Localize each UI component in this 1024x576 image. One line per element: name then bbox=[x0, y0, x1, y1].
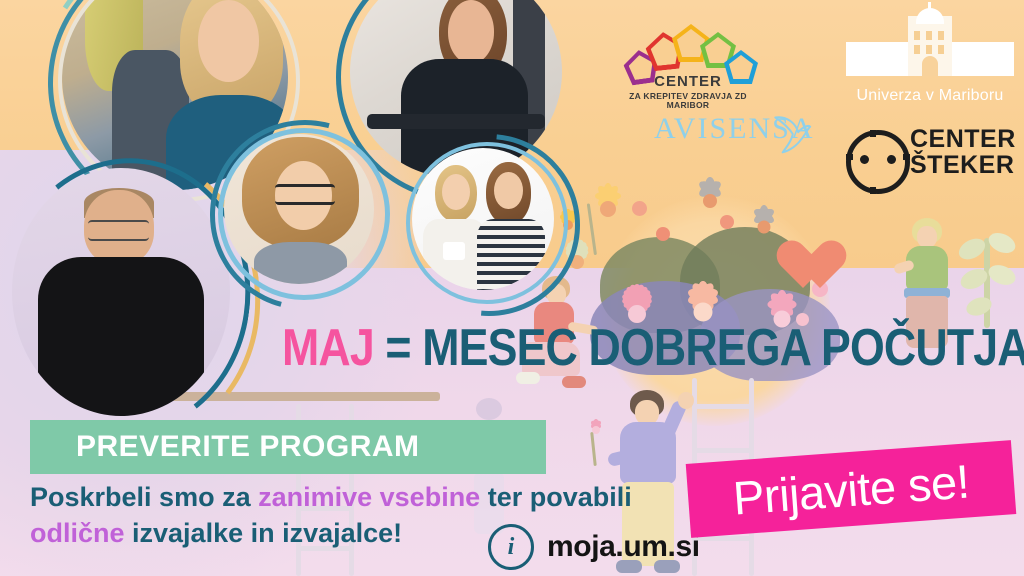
logo-center-steker: CENTER ŠTEKER bbox=[846, 126, 1018, 190]
shoe bbox=[562, 376, 586, 388]
flower-in-hand bbox=[582, 416, 610, 444]
headline-highlight: MAJ bbox=[282, 319, 374, 377]
logo-univerza-maribor: Univerza v Mariboru bbox=[846, 22, 1014, 114]
plant-leaves bbox=[962, 212, 1016, 330]
logo-university-label: Univerza v Mariboru bbox=[846, 88, 1014, 104]
pentagon-arch-icon bbox=[608, 24, 768, 72]
preverite-program-label: PREVERITE PROGRAM bbox=[76, 432, 420, 462]
logo-center-zdravje: CENTER ZA KREPITEV ZDRAVJA ZD MARIBOR bbox=[608, 24, 768, 104]
promo-banner: CENTER ZA KREPITEV ZDRAVJA ZD MARIBOR Un… bbox=[0, 0, 1024, 576]
power-socket-icon bbox=[846, 130, 910, 194]
logo-steker-label: CENTER ŠTEKER bbox=[910, 126, 1016, 178]
logo-center-subtitle: ZA KREPITEV ZDRAVJA ZD MARIBOR bbox=[608, 92, 768, 109]
bud bbox=[632, 201, 647, 216]
page-title: MAJ = MESEC DOBREGA POČUTJA NA UM bbox=[282, 322, 917, 374]
preverite-program-button[interactable]: PREVERITE PROGRAM bbox=[30, 420, 546, 474]
bud bbox=[656, 227, 670, 241]
website-url-label: moja.um.si bbox=[547, 532, 700, 562]
bud bbox=[720, 215, 734, 229]
info-icon: i bbox=[488, 524, 534, 570]
headline-rest: = MESEC DOBREGA POČUTJA NA UM bbox=[385, 319, 1024, 377]
heart-icon bbox=[790, 242, 846, 294]
bird-icon bbox=[768, 112, 812, 156]
face bbox=[917, 226, 937, 248]
signup-label: Prijavite se! bbox=[731, 457, 970, 521]
university-building-icon bbox=[846, 22, 1014, 84]
logo-avisensa: AVISENSA bbox=[654, 114, 810, 166]
tagline-line-1: Poskrbeli smo za zanimive vsebine ter po… bbox=[30, 480, 670, 516]
website-link[interactable]: i moja.um.si bbox=[488, 524, 700, 570]
hand bbox=[678, 392, 694, 409]
